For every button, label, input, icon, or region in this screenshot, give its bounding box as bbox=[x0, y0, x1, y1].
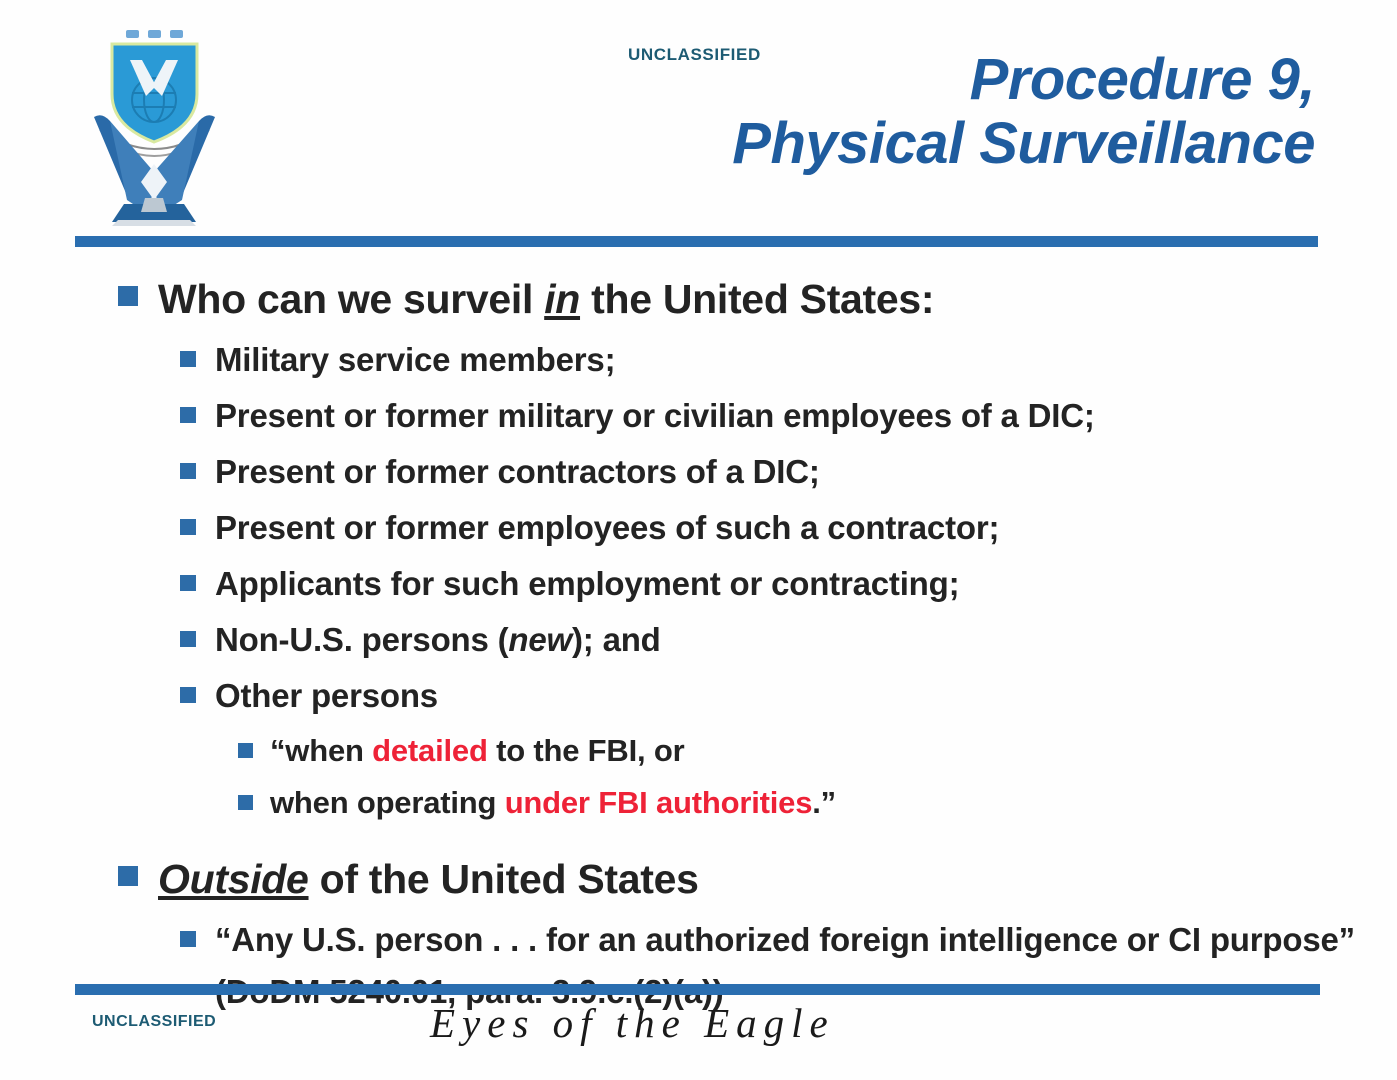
footer-tagline: Eyes of the Eagle bbox=[430, 999, 835, 1047]
square-bullet-icon bbox=[180, 519, 196, 535]
square-bullet-icon bbox=[180, 631, 196, 647]
bullet-item-label: Present or former military or civilian e… bbox=[215, 390, 1397, 442]
bullet-item-non-us-persons: Non-U.S. persons (new); and bbox=[0, 614, 1397, 666]
text-segment: Other persons bbox=[215, 677, 438, 714]
bullet-item-label: Present or former employees of such a co… bbox=[215, 502, 1397, 554]
bullet-item-label: Outside of the United States bbox=[158, 852, 1397, 906]
text-segment: Outside bbox=[158, 856, 309, 902]
bullet-item-label: Military service members; bbox=[215, 334, 1397, 386]
text-segment: “when bbox=[270, 733, 372, 768]
square-bullet-icon bbox=[180, 351, 196, 367]
text-segment: Military service members; bbox=[215, 341, 615, 378]
bullet-list: Who can we surveil in the United States:… bbox=[0, 272, 1397, 1022]
slide-canvas: UNCLASSIFIED Procedure 9, Physical Surve… bbox=[0, 0, 1397, 1080]
text-segment: “Any U.S. person . . . for an authorized… bbox=[215, 921, 1355, 1010]
bullet-item-military-service-members: Military service members; bbox=[0, 334, 1397, 386]
bullet-item-when-detailed-to-the-fbi: “when detailed to the FBI, or bbox=[0, 726, 1397, 776]
page-title: Procedure 9, Physical Surveillance bbox=[535, 48, 1315, 176]
text-segment: Applicants for such employment or contra… bbox=[215, 565, 959, 602]
square-bullet-icon bbox=[118, 866, 138, 886]
square-bullet-icon bbox=[180, 931, 196, 947]
bullet-item-label: Non-U.S. persons (new); and bbox=[215, 614, 1397, 666]
slide-footer: UNCLASSIFIED Eyes of the Eagle bbox=[0, 1005, 1397, 1065]
bullet-item-other-persons: Other persons bbox=[0, 670, 1397, 722]
text-segment: detailed bbox=[372, 733, 488, 768]
bullet-item-present-or-former-employees-of-contractor: Present or former employees of such a co… bbox=[0, 502, 1397, 554]
text-segment: under FBI authorities bbox=[505, 785, 813, 820]
bullet-item-label: Who can we surveil in the United States: bbox=[158, 272, 1397, 326]
text-segment: Present or former employees of such a co… bbox=[215, 509, 999, 546]
bullet-item-label: Other persons bbox=[215, 670, 1397, 722]
bullet-item-outside-of-the-united-states: Outside of the United States bbox=[0, 852, 1397, 906]
text-segment: to the FBI, or bbox=[488, 733, 685, 768]
us-air-force-seal-logo bbox=[72, 22, 242, 227]
page-title-line-1: Procedure 9, bbox=[535, 48, 1315, 112]
text-segment: Present or former military or civilian e… bbox=[215, 397, 1095, 434]
bullet-item-present-or-former-employees-dic: Present or former military or civilian e… bbox=[0, 390, 1397, 442]
bullet-item-when-operating-under-fbi-authorities: when operating under FBI authorities.” bbox=[0, 778, 1397, 828]
page-title-line-2: Physical Surveillance bbox=[535, 112, 1315, 176]
text-segment: the United States: bbox=[580, 276, 934, 322]
text-segment: of the United States bbox=[309, 856, 699, 902]
text-segment: Who can we surveil bbox=[158, 276, 544, 322]
square-bullet-icon bbox=[180, 407, 196, 423]
bullet-item-label: Present or former contractors of a DIC; bbox=[215, 446, 1397, 498]
square-bullet-icon bbox=[180, 687, 196, 703]
square-bullet-icon bbox=[180, 575, 196, 591]
text-segment: Non-U.S. persons ( bbox=[215, 621, 508, 658]
square-bullet-icon bbox=[238, 743, 253, 758]
classification-banner-bottom: UNCLASSIFIED bbox=[92, 1013, 216, 1031]
bullet-item-present-or-former-contractors-dic: Present or former contractors of a DIC; bbox=[0, 446, 1397, 498]
bullet-item-label: Applicants for such employment or contra… bbox=[215, 558, 1397, 610]
square-bullet-icon bbox=[118, 286, 138, 306]
bullet-item-label: “when detailed to the FBI, or bbox=[270, 726, 1397, 776]
bullet-item-applicants-for-employment-or-contracting: Applicants for such employment or contra… bbox=[0, 558, 1397, 610]
text-segment: ); and bbox=[572, 621, 661, 658]
slide-header: UNCLASSIFIED Procedure 9, Physical Surve… bbox=[0, 0, 1397, 238]
square-bullet-icon bbox=[180, 463, 196, 479]
header-divider-rule bbox=[75, 236, 1318, 247]
text-segment: Present or former contractors of a DIC; bbox=[215, 453, 820, 490]
bullet-item-label: when operating under FBI authorities.” bbox=[270, 778, 1397, 828]
text-segment: new bbox=[508, 621, 572, 658]
square-bullet-icon bbox=[238, 795, 253, 810]
bullet-item-who-can-we-surveil-in-us: Who can we surveil in the United States: bbox=[0, 272, 1397, 326]
text-segment: in bbox=[544, 276, 580, 322]
footer-divider-rule bbox=[75, 984, 1320, 995]
text-segment: .” bbox=[812, 785, 836, 820]
text-segment: when operating bbox=[270, 785, 505, 820]
